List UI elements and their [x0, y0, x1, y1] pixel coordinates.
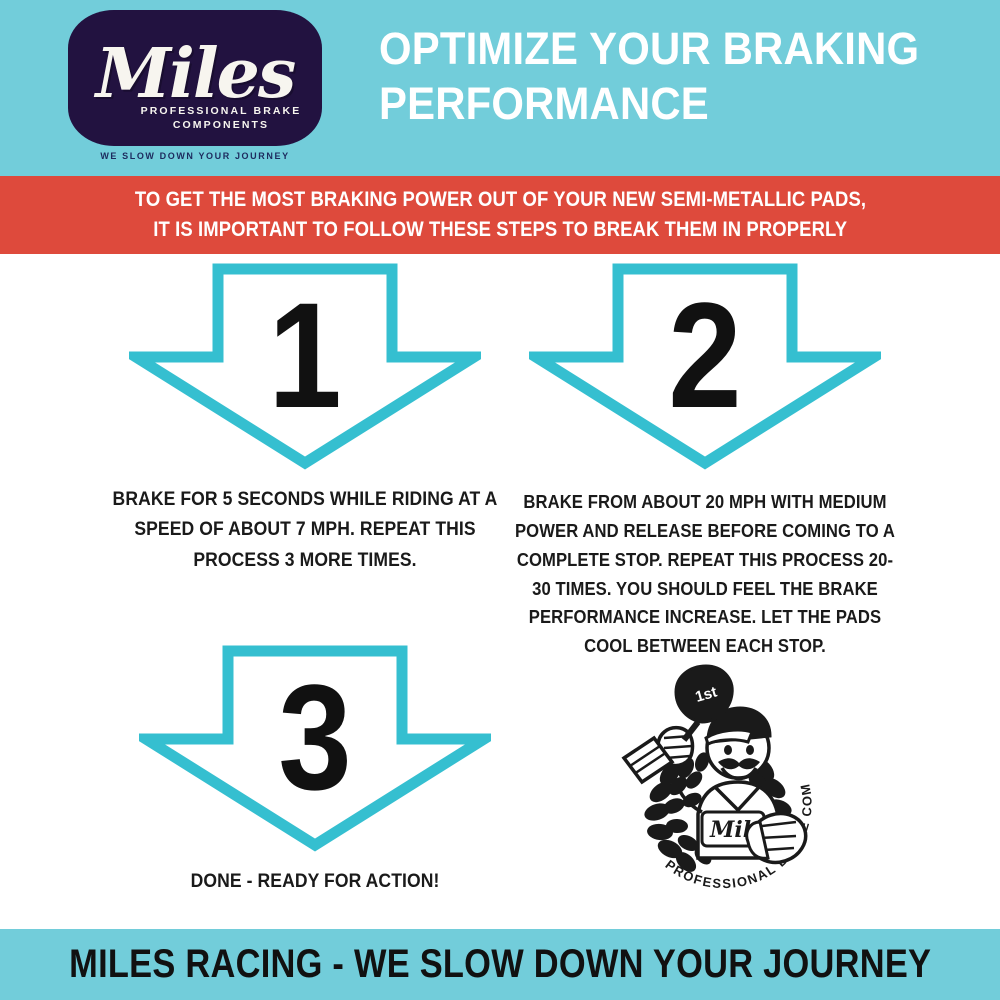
step-2-description: BRAKE FROM ABOUT 20 MPH WITH MEDIUM POWE… — [512, 488, 899, 661]
steps-section: 1 BRAKE FOR 5 SECONDS WHILE RIDING AT A … — [0, 254, 1000, 929]
intro-banner-line-1: TO GET THE MOST BRAKING POWER OUT OF YOU… — [134, 185, 865, 215]
step-2-number: 2 — [516, 262, 894, 470]
step-1-description: BRAKE FOR 5 SECONDS WHILE RIDING AT A SP… — [112, 484, 499, 575]
step-3-description: DONE - READY FOR ACTION! — [131, 866, 500, 896]
mascot-badge-text: Mil — [709, 817, 751, 843]
step-item-3: 3 DONE - READY FOR ACTION! — [110, 644, 520, 896]
infographic-page: Miles PROFESSIONAL BRAKE COMPONENTS WE S… — [0, 0, 1000, 1000]
brand-logo: Miles PROFESSIONAL BRAKE COMPONENTS WE S… — [68, 10, 322, 170]
logo-subtitle-line2: COMPONENTS — [120, 118, 322, 132]
step-3-number: 3 — [135, 644, 496, 852]
header-banner: Miles PROFESSIONAL BRAKE COMPONENTS WE S… — [0, 0, 1000, 176]
mascot-trophy-icon: PROFESSIONAL BRAKE COMPONENTS — [598, 662, 838, 894]
step-3-arrow-wrap: 3 — [110, 644, 520, 852]
footer-banner: MILES RACING - WE SLOW DOWN YOUR JOURNEY — [0, 929, 1000, 1000]
logo-subtitle-line1: PROFESSIONAL BRAKE — [120, 104, 322, 118]
logo-tagline: WE SLOW DOWN YOUR JOURNEY — [68, 151, 322, 161]
step-1-arrow-wrap: 1 — [90, 262, 520, 470]
step-item-2: 2 BRAKE FROM ABOUT 20 MPH WITH MEDIUM PO… — [490, 262, 920, 661]
logo-brand-script: Miles — [68, 40, 322, 108]
mascot-eye-right — [746, 745, 754, 755]
page-title: OPTIMIZE YOUR BRAKING PERFORMANCE — [379, 22, 937, 132]
headline-line-2: PERFORMANCE — [379, 77, 937, 132]
logo-subtitle: PROFESSIONAL BRAKE COMPONENTS — [68, 104, 322, 132]
intro-banner: TO GET THE MOST BRAKING POWER OUT OF YOU… — [0, 176, 1000, 254]
intro-banner-line-2: IT IS IMPORTANT TO FOLLOW THESE STEPS TO… — [153, 215, 847, 245]
footer-tagline: MILES RACING - WE SLOW DOWN YOUR JOURNEY — [69, 942, 931, 987]
headline-line-1: OPTIMIZE YOUR BRAKING — [379, 22, 937, 77]
mascot-eye-left — [724, 745, 732, 755]
mascot-logo-illustration: PROFESSIONAL BRAKE COMPONENTS — [598, 662, 838, 894]
step-item-1: 1 BRAKE FOR 5 SECONDS WHILE RIDING AT A … — [90, 262, 520, 575]
step-2-arrow-wrap: 2 — [490, 262, 920, 470]
step-1-number: 1 — [116, 262, 494, 470]
logo-plate: Miles PROFESSIONAL BRAKE COMPONENTS — [68, 10, 322, 146]
